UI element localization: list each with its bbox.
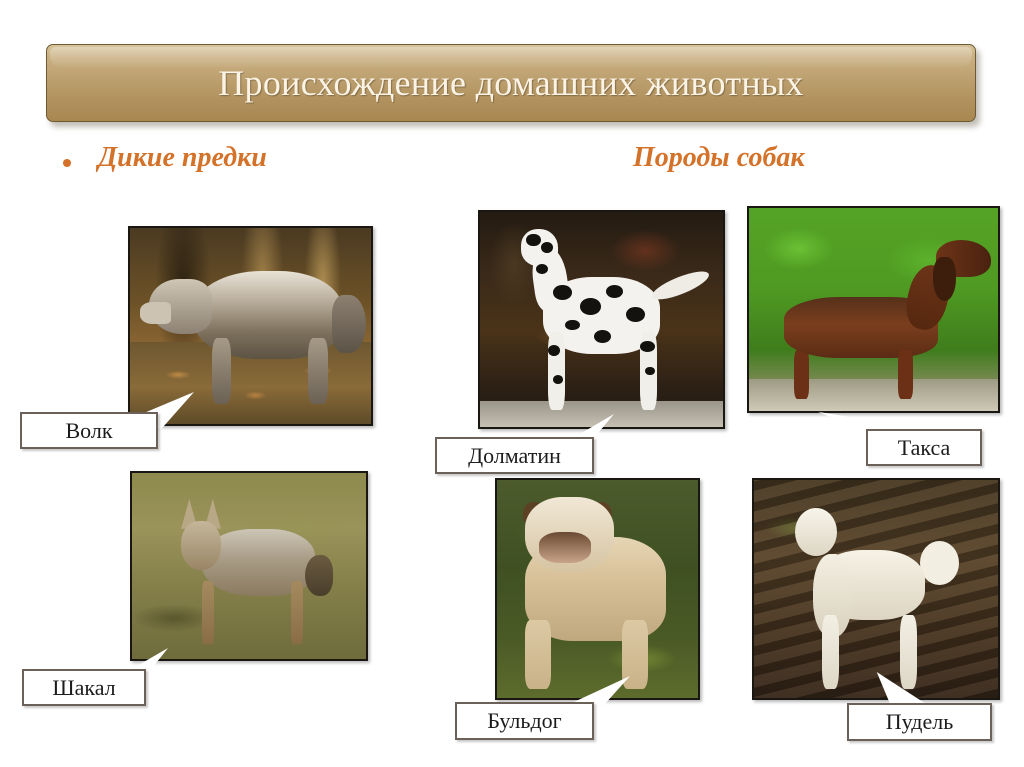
dalmatian-spot [541, 242, 553, 253]
bullet-dot-icon [63, 159, 71, 167]
wolf-snout-shape [140, 302, 171, 324]
poodle-front-leg-shape [822, 615, 839, 689]
jackal-tail-shape [305, 555, 333, 596]
bulldog-muzzle-shape [539, 532, 591, 563]
callout-text-dachshund: Такса [898, 437, 951, 459]
heading-wild-ancestors: Дикие предки [98, 144, 267, 172]
jackal-photo [130, 471, 368, 661]
callout-text-jackal: Шакал [52, 677, 115, 699]
callout-text-wolf: Волк [65, 420, 112, 442]
dalmatian-front-leg-shape [548, 332, 565, 409]
dalmatian-spot [526, 234, 541, 247]
bulldog-photo [495, 478, 700, 700]
dalmatian-spot [626, 307, 645, 322]
heading-dog-breeds: Породы собак [633, 144, 805, 172]
wolf-photo [128, 226, 373, 426]
poodle-rear-leg-shape [900, 615, 917, 689]
callout-text-dalmatian: Долматин [468, 445, 561, 467]
jackal-head-shape [181, 521, 221, 569]
poodle-head-shape [795, 508, 836, 556]
dalmatian-spot [553, 375, 563, 384]
callout-label-poodle: Пудель [847, 703, 992, 741]
jackal-front-leg-shape [202, 581, 214, 644]
page-title: Происхождение домашних животных [218, 65, 803, 101]
bulldog-front-leg-shape [525, 620, 551, 690]
title-banner: Происхождение домашних животных [46, 44, 976, 122]
dachshund-photo [747, 206, 1000, 413]
dachshund-rear-leg-shape [794, 350, 809, 399]
dachshund-ear-shape [933, 257, 955, 302]
callout-label-dachshund: Такса [866, 429, 982, 466]
poodle-tail-pompom-shape [920, 541, 959, 585]
dachshund-front-leg-shape [898, 350, 913, 399]
callout-text-poodle: Пудель [886, 711, 953, 733]
wolf-front-leg-shape [212, 338, 231, 405]
slide-canvas: Происхождение домашних животных Дикие пр… [0, 0, 1024, 767]
callout-label-jackal: Шакал [22, 669, 146, 706]
wolf-rear-leg-shape [308, 338, 327, 405]
callout-label-wolf: Волк [20, 412, 158, 449]
column-headings: Дикие предки Породы собак [0, 140, 1024, 184]
callout-text-bulldog: Бульдог [487, 710, 561, 732]
dalmatian-photo [478, 210, 725, 429]
dachshund-path-shape [749, 379, 998, 411]
jackal-rear-leg-shape [291, 581, 303, 644]
dalmatian-spot [565, 320, 580, 331]
callout-label-dalmatian: Долматин [435, 437, 594, 474]
dalmatian-spot [640, 341, 655, 352]
callout-label-bulldog: Бульдог [455, 702, 594, 740]
poodle-photo [752, 478, 1000, 700]
